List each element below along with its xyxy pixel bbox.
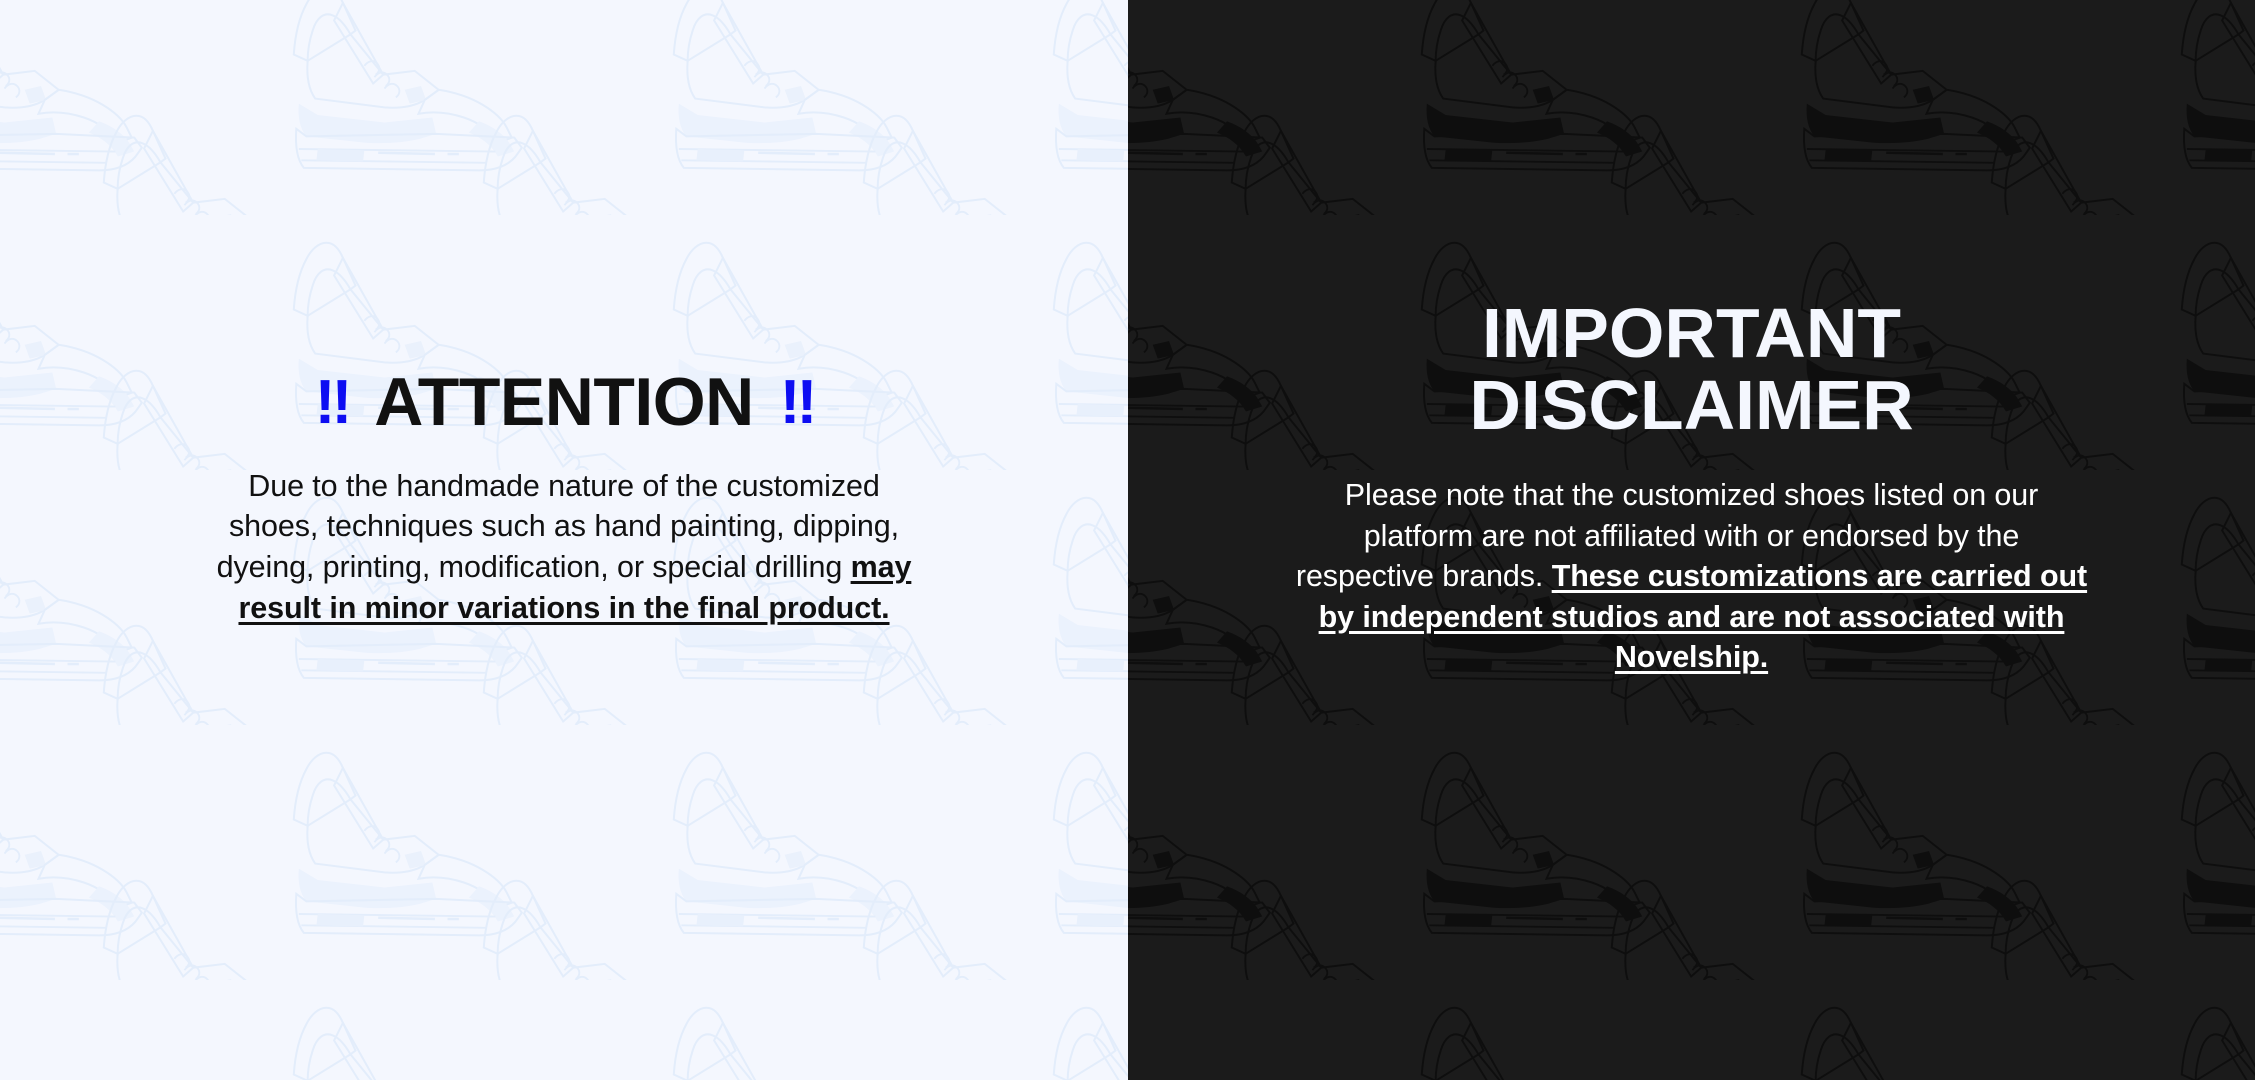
disclaimer-body: Please note that the customized shoes li… (1292, 475, 2092, 678)
attention-content: ‼ATTENTION‼ Due to the handmade nature o… (0, 368, 1128, 628)
attention-panel: ‼ATTENTION‼ Due to the handmade nature o… (0, 0, 1128, 1080)
disclaimer-panel: IMPORTANT DISCLAIMER Please note that th… (1128, 0, 2255, 1080)
attention-body-plain: Due to the handmade nature of the custom… (217, 469, 899, 584)
attention-body: Due to the handmade nature of the custom… (204, 466, 924, 628)
double-exclamation-right-icon: ‼ (780, 372, 813, 434)
attention-heading-text: ATTENTION (374, 364, 754, 440)
disclaimer-heading-line2: DISCLAIMER (1469, 366, 1913, 444)
disclaimer-heading-line1: IMPORTANT (1482, 294, 1901, 372)
split-banner: ‼ATTENTION‼ Due to the handmade nature o… (0, 0, 2255, 1080)
double-exclamation-left-icon: ‼ (315, 372, 348, 434)
attention-heading: ‼ATTENTION‼ (120, 368, 1008, 436)
disclaimer-content: IMPORTANT DISCLAIMER Please note that th… (1128, 298, 2255, 678)
disclaimer-heading: IMPORTANT DISCLAIMER (1270, 298, 2114, 441)
